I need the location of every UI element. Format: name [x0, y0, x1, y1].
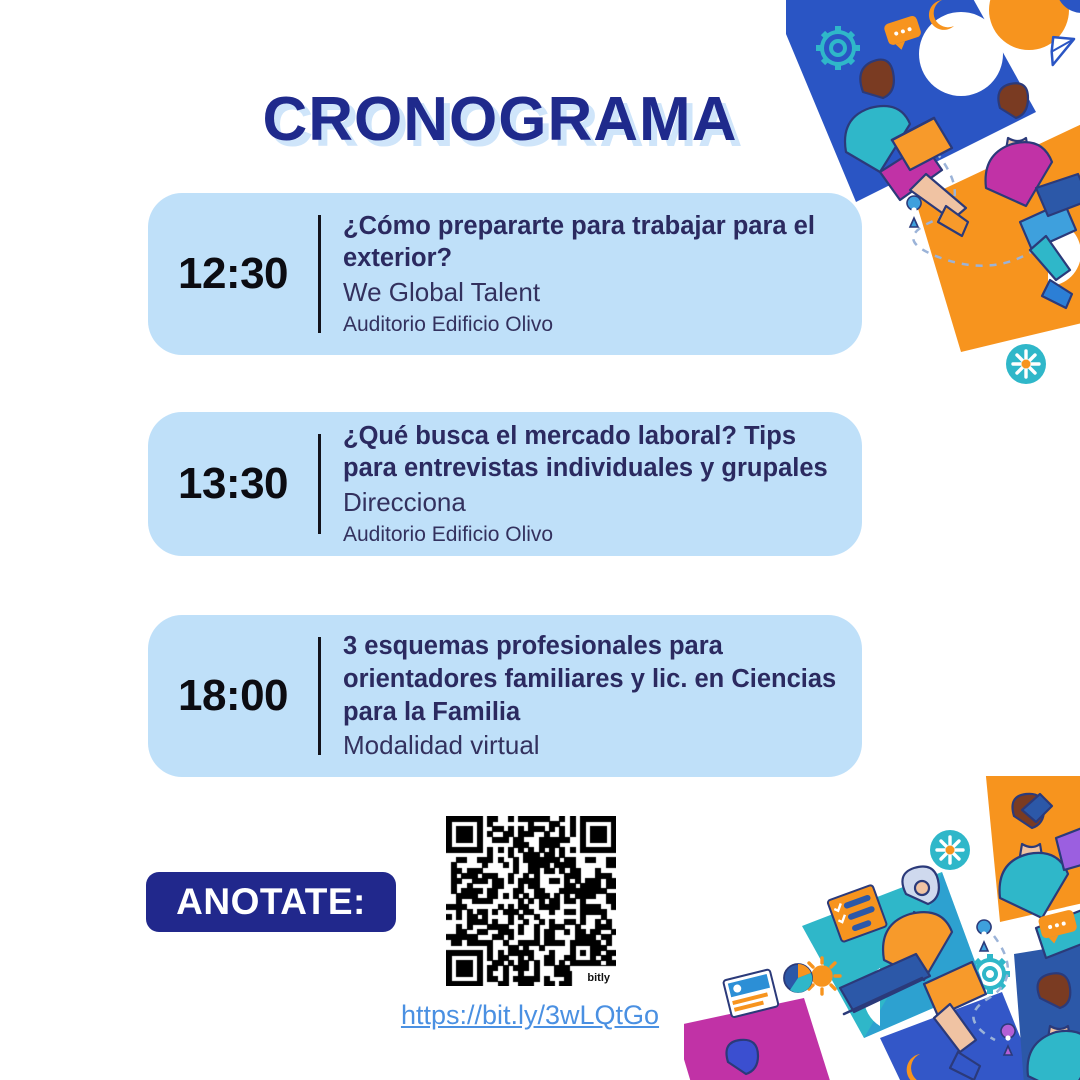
schedule-place: Auditorio Edificio Olivo [343, 522, 840, 548]
schedule-card: 12:30 ¿Cómo prepararte para trabajar par… [148, 193, 862, 355]
schedule-title: ¿Qué busca el mercado laboral? Tips para… [343, 420, 840, 485]
schedule-time: 18:00 [148, 671, 318, 721]
qr-code-image[interactable] [446, 816, 616, 986]
qr-code[interactable]: bitly [446, 816, 616, 986]
signup-link[interactable]: https://bit.ly/3wLQtGo [330, 1000, 730, 1031]
schedule-organizer: We Global Talent [343, 277, 840, 308]
schedule-card: 13:30 ¿Qué busca el mercado laboral? Tip… [148, 412, 862, 556]
schedule-time: 12:30 [148, 249, 318, 299]
schedule-organizer: Modalidad virtual [343, 730, 840, 761]
schedule-title: 3 esquemas profesionales para orientador… [343, 630, 840, 728]
schedule-card-body: 3 esquemas profesionales para orientador… [321, 630, 844, 761]
schedule-card-body: ¿Cómo prepararte para trabajar para el e… [321, 210, 844, 339]
bottom-right-illustration [684, 776, 1080, 1080]
schedule-card: 18:00 3 esquemas profesionales para orie… [148, 615, 862, 777]
schedule-title: ¿Cómo prepararte para trabajar para el e… [343, 210, 840, 275]
schedule-place: Auditorio Edificio Olivo [343, 312, 840, 338]
qr-brand-label: bitly [585, 972, 612, 984]
schedule-card-body: ¿Qué busca el mercado laboral? Tips para… [321, 420, 844, 549]
schedule-organizer: Direcciona [343, 487, 840, 518]
anotate-button[interactable]: ANOTATE: [146, 872, 396, 932]
schedule-time: 13:30 [148, 459, 318, 509]
poster-canvas: CRONOGRAMA 12:30 ¿Cómo prepararte para t… [0, 0, 1080, 1080]
page-title: CRONOGRAMA [0, 84, 1000, 155]
